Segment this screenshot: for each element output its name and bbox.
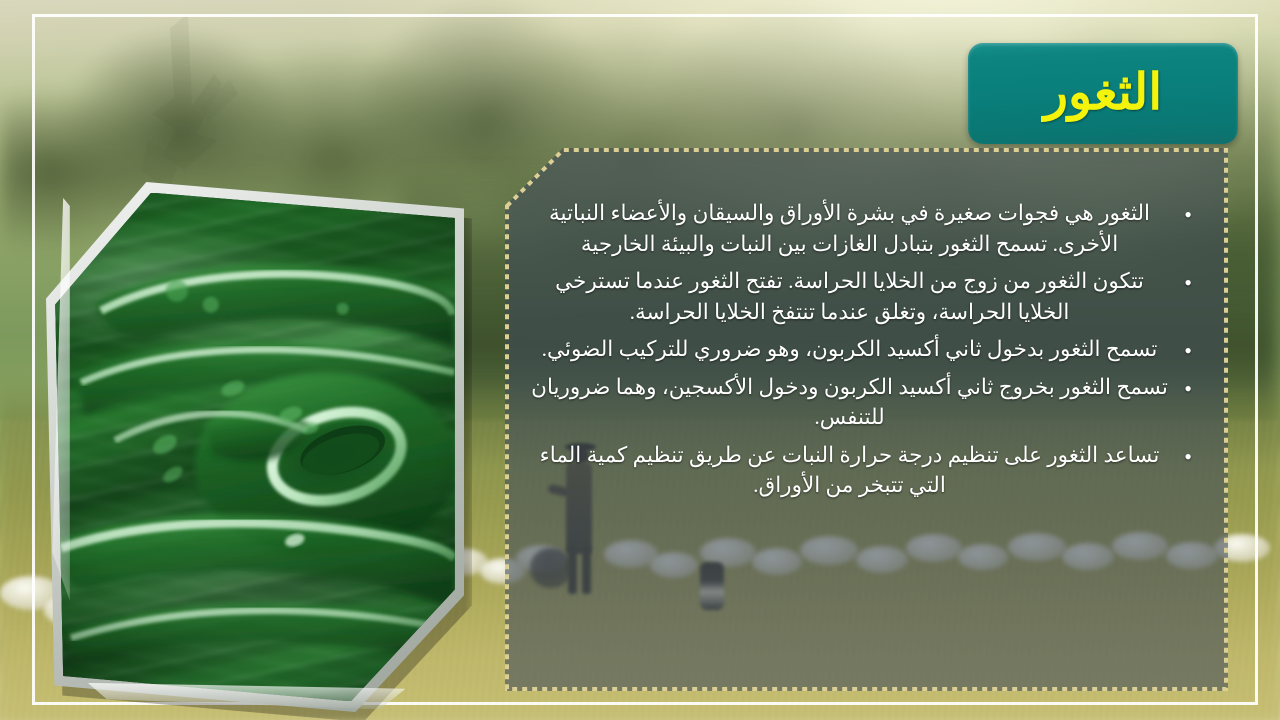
slide-title-plate: الثغور [968, 43, 1238, 144]
list-item: تسمح الثغور بخروج ثاني أكسيد الكربون ودخ… [531, 372, 1194, 433]
bullet-list: الثغور هي فجوات صغيرة في بشرة الأوراق وا… [505, 148, 1228, 691]
page-title: الثغور [1044, 67, 1162, 121]
content-panel: الثغور هي فجوات صغيرة في بشرة الأوراق وا… [505, 148, 1228, 691]
list-item: الثغور هي فجوات صغيرة في بشرة الأوراق وا… [531, 198, 1194, 259]
list-item: تسمح الثغور بدخول ثاني أكسيد الكربون، وه… [531, 334, 1194, 365]
hexagon-photo-clip [55, 193, 455, 702]
list-item: تساعد الثغور على تنظيم درجة حرارة النبات… [531, 440, 1194, 501]
hexagon-image-frame [46, 182, 464, 712]
list-item: تتكون الثغور من زوج من الخلايا الحراسة. … [531, 266, 1194, 327]
presentation-slide: الثغور الثغور هي فجوات صغيرة في بشرة الأ… [0, 0, 1280, 720]
micrograph-vignette [55, 193, 455, 702]
